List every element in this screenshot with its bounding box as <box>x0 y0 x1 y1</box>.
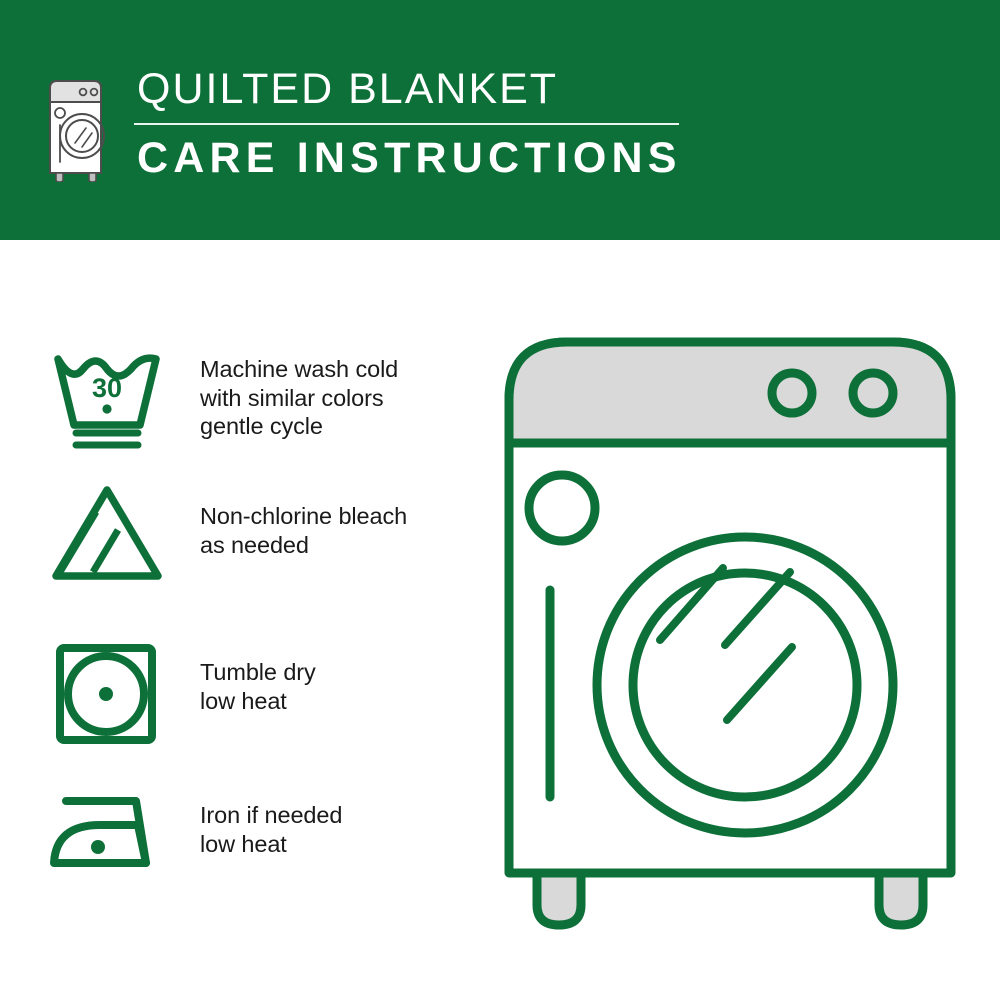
iron-low-heat-icon <box>48 785 166 893</box>
care-instruction-text: Non-chlorine bleach as needed <box>200 480 407 559</box>
care-instruction-text: Iron if needed low heat <box>200 785 342 858</box>
care-instruction-item: Tumble dry low heat <box>48 640 316 748</box>
washer-control-panel <box>509 342 951 443</box>
care-instruction-item: Iron if needed low heat <box>48 785 342 893</box>
washer-leg <box>537 873 581 925</box>
title-divider <box>134 123 679 125</box>
page-subtitle: CARE INSTRUCTIONS <box>134 133 682 183</box>
washer-leg <box>879 873 923 925</box>
wash-tub-30-gentle-icon: 30 <box>48 343 166 451</box>
non-chlorine-bleach-triangle-icon <box>48 480 166 588</box>
care-instruction-item: 30 Machine wash cold with similar colors… <box>48 343 398 451</box>
care-instruction-text: Tumble dry low heat <box>200 640 316 715</box>
header-content: QUILTED BLANKET CARE INSTRUCTIONS <box>44 64 682 183</box>
washing-machine-icon <box>44 70 112 182</box>
care-instructions-list: 30 Machine wash cold with similar colors… <box>0 240 500 1000</box>
tumble-dry-low-heat-icon <box>48 640 166 748</box>
header-banner: QUILTED BLANKET CARE INSTRUCTIONS <box>0 0 1000 240</box>
page-title: QUILTED BLANKET <box>134 64 682 114</box>
title-block: QUILTED BLANKET CARE INSTRUCTIONS <box>134 64 682 183</box>
care-instruction-item: Non-chlorine bleach as needed <box>48 480 407 588</box>
large-washing-machine-illustration <box>495 325 975 935</box>
wash-temperature-value: 30 <box>92 373 122 403</box>
care-instruction-text: Machine wash cold with similar colors ge… <box>200 343 398 441</box>
